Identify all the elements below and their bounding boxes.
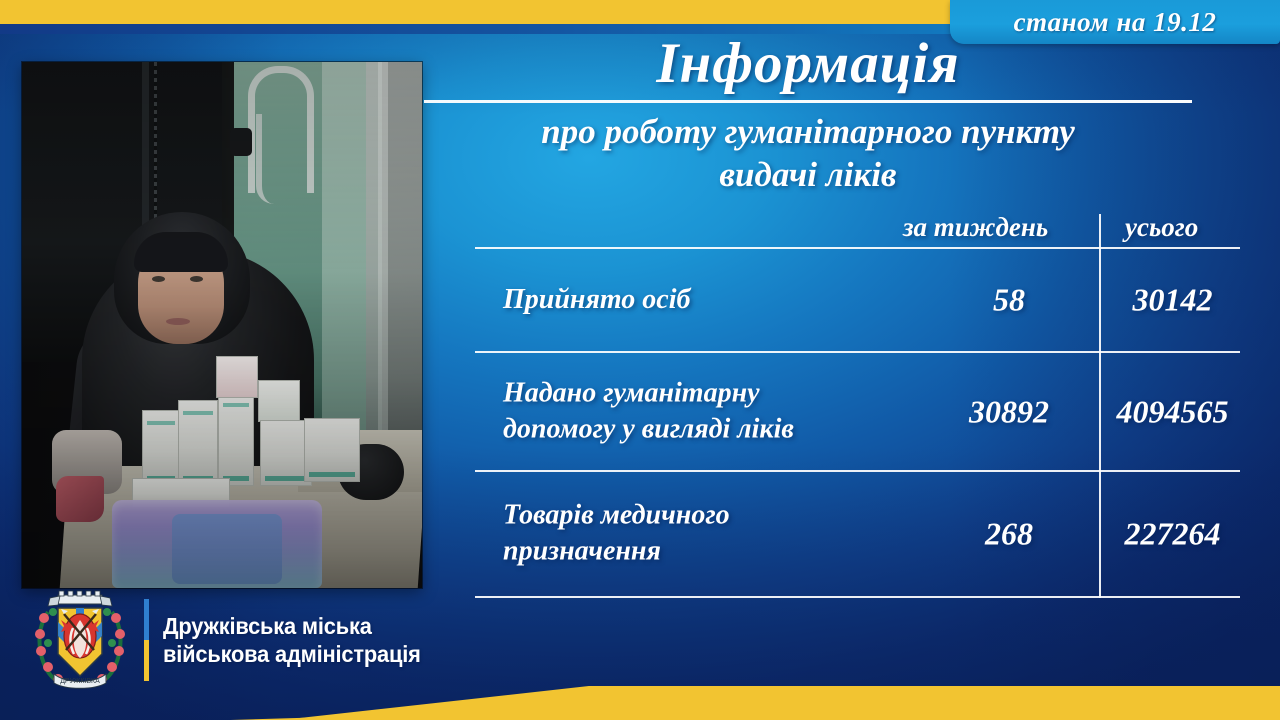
- footer-divider: [144, 599, 149, 681]
- column-header-week: за тиждень: [903, 212, 1048, 243]
- row-label-line1: Товарів медичного: [503, 498, 923, 534]
- footer-org-name: Дружківська міська військова адміністрац…: [163, 612, 434, 668]
- table-row: Надано гуманітарну допомогу у вигляді лі…: [475, 353, 1240, 470]
- row-value-total: 227264: [1105, 516, 1240, 553]
- footer-org-line1: Дружківська міська: [163, 612, 421, 640]
- row-label: Прийнято осіб: [503, 282, 923, 318]
- page-subtitle-line1: про роботу гуманітарного пункту: [424, 111, 1192, 154]
- infographic-poster: станом на 19.12: [0, 0, 1280, 720]
- row-label-line1: Надано гуманітарну: [503, 375, 923, 411]
- coat-of-arms-icon: ДРУЖКІВКА: [28, 588, 132, 692]
- row-value-week: 268: [925, 516, 1093, 553]
- statistics-table: за тиждень усього Прийнято осіб 58 30142…: [475, 212, 1240, 598]
- column-header-total: усього: [1125, 212, 1198, 243]
- row-value-total: 30142: [1105, 282, 1240, 319]
- table-row: Прийнято осіб 58 30142: [475, 249, 1240, 351]
- row-label-line2: призначення: [503, 534, 923, 570]
- page-subtitle-line2: видачі ліків: [424, 154, 1192, 197]
- coat-of-arms-motto: ДРУЖКІВКА: [60, 678, 100, 685]
- table-rule-bottom: [475, 596, 1240, 598]
- row-label-line1: Прийнято осіб: [503, 282, 923, 318]
- row-label: Надано гуманітарну допомогу у вигляді лі…: [503, 375, 923, 448]
- page-title: Інформація: [424, 34, 1192, 94]
- row-label: Товарів медичного призначення: [503, 498, 923, 571]
- date-badge-text: станом на 19.12: [1014, 7, 1217, 38]
- table-row: Товарів медичного призначення 268 227264: [475, 472, 1240, 596]
- photo: [22, 62, 422, 588]
- row-value-week: 30892: [925, 393, 1093, 430]
- photo-shading-overlay: [22, 62, 422, 588]
- row-value-week: 58: [925, 282, 1093, 319]
- footer-branding: ДРУЖКІВКА Дружківська міська військова а…: [28, 588, 448, 692]
- title-block: Інформація про роботу гуманітарного пунк…: [424, 34, 1192, 196]
- row-value-total: 4094565: [1105, 393, 1240, 430]
- title-divider: [424, 100, 1192, 103]
- footer-org-line2: військова адміністрація: [163, 640, 421, 668]
- row-label-line2: допомогу у вигляді ліків: [503, 412, 923, 448]
